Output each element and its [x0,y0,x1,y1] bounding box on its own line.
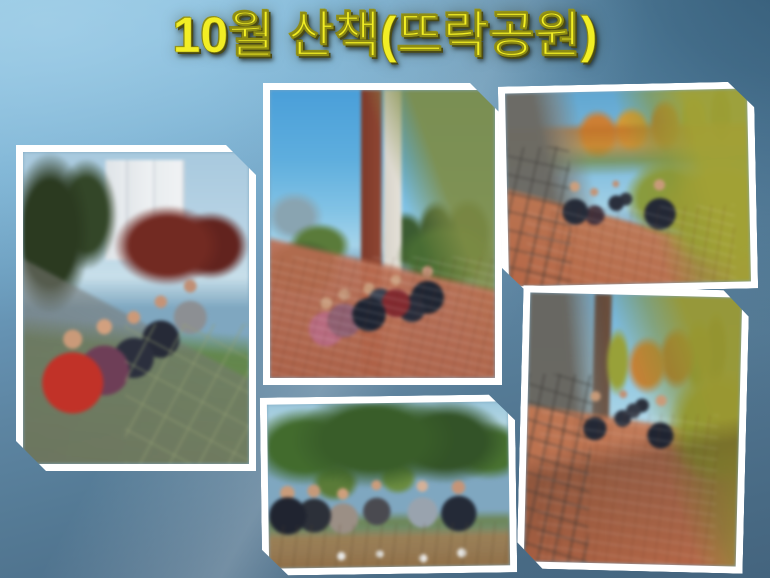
photo-brick-path-walkers[interactable] [263,83,502,385]
photo-standing-group-pine-image [267,401,510,568]
photo-sloped-walkway-image [524,292,743,566]
photo-sloped-walkway-scene [524,292,743,566]
photo-bench-group-scene [23,152,249,464]
photo-bench-group-image [23,152,249,464]
photo-retaining-wall-walkway[interactable] [498,81,758,293]
slide-canvas: 10월 산책(뜨락공원) [0,0,770,578]
photo-sloped-walkway[interactable] [517,285,750,573]
photo-brick-path-walkers-scene [270,90,495,378]
photo-retaining-wall-walkway-image [505,88,751,286]
photo-standing-group-pine[interactable] [260,394,517,576]
page-title: 10월 산책(뜨락공원) [0,8,770,62]
photo-standing-group-pine-scene [267,401,510,568]
photo-brick-path-walkers-image [270,90,495,378]
photo-bench-group[interactable] [16,145,256,471]
photo-retaining-wall-walkway-scene [505,88,751,286]
